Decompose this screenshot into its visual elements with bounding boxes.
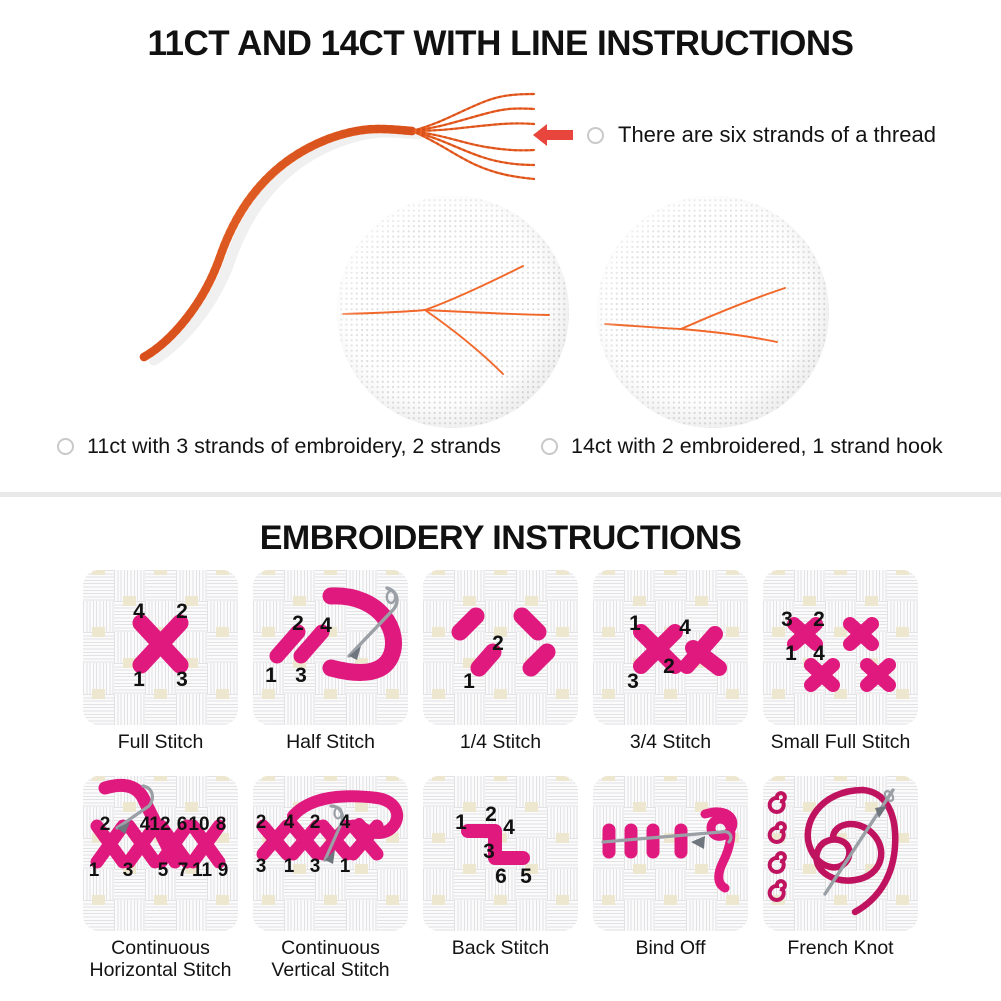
cont-h-bot-5: 5 [158, 860, 169, 881]
small-full-num-3: 3 [781, 608, 793, 631]
three-quarter-stitch-diagram: 1 4 3 2 [593, 570, 748, 725]
full-stitch-num-2: 2 [176, 600, 188, 623]
french-knot-dots [770, 793, 785, 900]
cont-v-bot-3b: 3 [310, 856, 321, 877]
quarter-stitch-num-2: 2 [492, 632, 504, 655]
caption-11ct: 11ct with 3 strands of embroidery, 2 str… [57, 434, 501, 459]
ring-bullet-icon [541, 438, 558, 455]
full-stitch-num-4: 4 [133, 600, 145, 623]
quarter-stitch-diagram: 2 1 [423, 570, 578, 725]
half-stitch-diagram: 2 4 1 3 [253, 570, 408, 725]
stitch-label-back-stitch: Back Stitch [423, 938, 578, 960]
cont-v-top-2a: 2 [256, 812, 267, 833]
bind-off-diagram [593, 776, 748, 931]
back-stitch-num-6: 6 [495, 865, 507, 888]
stitch-label-three-quarter-stitch: 3/4 Stitch [593, 732, 748, 754]
stitch-tile-french-knot [763, 776, 918, 931]
aida-shade-11ct [337, 196, 569, 428]
stitch-tile-three-quarter-stitch: 1 4 3 2 [593, 570, 748, 725]
stitch-cell-full-stitch: 4 2 1 3 Full Stitch [83, 570, 238, 754]
stitch-cell-continuous-vertical-stitch: 2 4 2 4 3 1 3 1 Continuous Vertical Sti [253, 776, 408, 982]
cont-v-bot-1a: 1 [284, 856, 295, 877]
back-stitch-num-2: 2 [485, 803, 497, 826]
caption-14ct: 14ct with 2 embroidered, 1 strand hook [541, 434, 943, 459]
cont-h-bot-11: 11 [192, 860, 213, 881]
cont-h-bot-7: 7 [178, 860, 189, 881]
three-quarter-num-2: 2 [663, 655, 675, 678]
aida-shade-14ct [597, 196, 829, 428]
back-stitch-num-4: 4 [503, 816, 515, 839]
stitch-grid: 4 2 1 3 Full Stitch [0, 570, 1001, 981]
back-stitch-num-1: 1 [455, 811, 467, 834]
stitch-cell-back-stitch: 1 2 4 3 6 5 Back Stitch [423, 776, 578, 982]
stitch-label-continuous-horizontal-stitch: Continuous Horizontal Stitch [83, 938, 238, 982]
needle-icon [603, 832, 731, 849]
arrow-left-icon [533, 124, 573, 146]
stitch-cell-continuous-horizontal-stitch: 2 4 12 6 10 8 1 3 5 7 11 9 [83, 776, 238, 982]
cont-h-top-10: 10 [188, 814, 209, 835]
stitch-label-quarter-stitch: 1/4 Stitch [423, 732, 578, 754]
stitch-cell-bind-off: Bind Off [593, 776, 748, 982]
page-title-embroidery-instructions: EMBROIDERY INSTRUCTIONS [0, 519, 1001, 558]
stitch-row-2: 2 4 12 6 10 8 1 3 5 7 11 9 [0, 776, 1001, 982]
stitch-label-bind-off: Bind Off [593, 938, 748, 960]
cont-h-top-2: 2 [100, 814, 111, 835]
cont-h-top-12: 12 [149, 814, 170, 835]
small-full-num-2: 2 [813, 608, 825, 631]
cont-h-bot-9: 9 [218, 860, 229, 881]
stitch-cell-french-knot: French Knot [763, 776, 918, 982]
stitch-tile-back-stitch: 1 2 4 3 6 5 [423, 776, 578, 931]
full-stitch-num-1: 1 [133, 668, 145, 691]
cont-h-bot-3: 3 [123, 860, 134, 881]
stitch-cell-three-quarter-stitch: 1 4 3 2 3/4 Stitch [593, 570, 748, 754]
stitch-cell-quarter-stitch: 2 1 1/4 Stitch [423, 570, 578, 754]
french-knot-diagram [763, 776, 918, 931]
full-stitch-diagram: 4 2 1 3 [83, 570, 238, 725]
stitch-tile-small-full-stitch: 3 2 1 4 [763, 570, 918, 725]
small-full-stitch-diagram: 3 2 1 4 [763, 570, 918, 725]
cont-v-top-4a: 4 [284, 812, 295, 833]
stitch-cell-half-stitch: 2 4 1 3 Half Stitch [253, 570, 408, 754]
half-stitch-num-3: 3 [295, 664, 307, 687]
stitch-label-continuous-vertical-stitch: Continuous Vertical Stitch [253, 938, 408, 982]
page-title-line-instructions: 11CT AND 14CT WITH LINE INSTRUCTIONS [0, 24, 1001, 64]
cont-v-top-2b: 2 [310, 812, 321, 833]
small-full-num-4: 4 [813, 642, 825, 665]
section-divider [0, 492, 1001, 497]
stitch-tile-continuous-vertical-stitch: 2 4 2 4 3 1 3 1 [253, 776, 408, 931]
three-quarter-num-3: 3 [627, 670, 639, 693]
back-stitch-num-3: 3 [483, 840, 495, 863]
stitch-tile-half-stitch: 2 4 1 3 [253, 570, 408, 725]
stitch-tile-continuous-horizontal-stitch: 2 4 12 6 10 8 1 3 5 7 11 9 [83, 776, 238, 931]
cont-v-bot-1b: 1 [340, 856, 351, 877]
stitch-label-small-full-stitch: Small Full Stitch [763, 732, 918, 754]
six-strands-note: There are six strands of a thread [533, 122, 936, 148]
stitch-label-french-knot: French Knot [763, 938, 918, 960]
cont-h-top-6: 6 [177, 814, 188, 835]
stitch-tile-full-stitch: 4 2 1 3 [83, 570, 238, 725]
aida-circle-14ct [597, 196, 829, 428]
stitch-row-1: 4 2 1 3 Full Stitch [0, 570, 1001, 754]
six-strands-note-text: There are six strands of a thread [618, 122, 936, 148]
stitch-label-full-stitch: Full Stitch [83, 732, 238, 754]
stitch-label-half-stitch: Half Stitch [253, 732, 408, 754]
cont-h-bot-1: 1 [89, 860, 100, 881]
continuous-horizontal-diagram: 2 4 12 6 10 8 1 3 5 7 11 9 [83, 776, 238, 931]
full-stitch-num-3: 3 [176, 668, 188, 691]
cont-h-top-8: 8 [216, 814, 227, 835]
half-stitch-num-2: 2 [292, 612, 304, 635]
caption-11ct-text: 11ct with 3 strands of embroidery, 2 str… [87, 434, 501, 459]
continuous-vertical-diagram: 2 4 2 4 3 1 3 1 [253, 776, 408, 931]
small-full-num-1: 1 [785, 642, 797, 665]
cont-v-bot-3a: 3 [256, 856, 267, 877]
cont-v-top-4b: 4 [340, 812, 351, 833]
half-stitch-num-4: 4 [320, 614, 332, 637]
stitch-tile-bind-off [593, 776, 748, 931]
half-stitch-num-1: 1 [265, 664, 277, 687]
instruction-sheet: 11CT AND 14CT WITH LINE INSTRUCTIONS [0, 0, 1001, 1001]
three-quarter-num-4: 4 [679, 616, 691, 639]
ring-bullet-icon [57, 438, 74, 455]
quarter-stitch-num-1: 1 [463, 670, 475, 693]
thread-instruction-section: 11CT AND 14CT WITH LINE INSTRUCTIONS [0, 0, 1001, 492]
aida-circle-11ct [337, 196, 569, 428]
back-stitch-diagram: 1 2 4 3 6 5 [423, 776, 578, 931]
stitch-cell-small-full-stitch: 3 2 1 4 Small Full Stitch [763, 570, 918, 754]
caption-14ct-text: 14ct with 2 embroidered, 1 strand hook [571, 434, 943, 459]
back-stitch-num-5: 5 [520, 865, 532, 888]
ring-bullet-icon [587, 127, 604, 144]
three-quarter-num-1: 1 [629, 612, 641, 635]
stitch-tile-quarter-stitch: 2 1 [423, 570, 578, 725]
